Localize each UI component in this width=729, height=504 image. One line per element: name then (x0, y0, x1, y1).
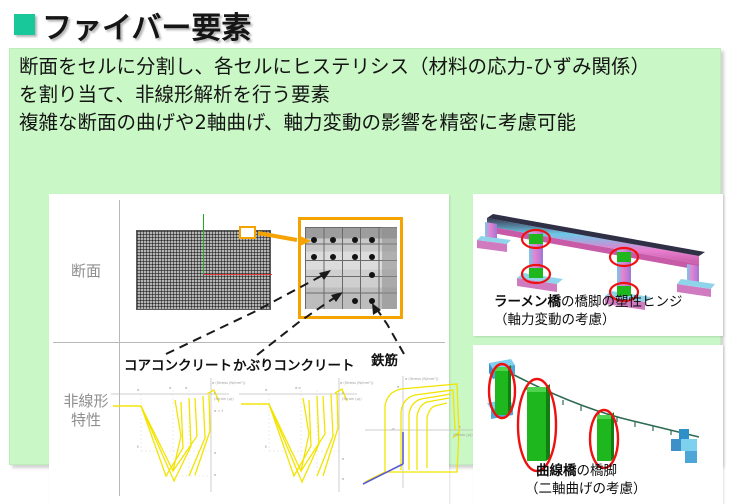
description-line-2: を割り当て、非線形解析を行う要素 (19, 81, 719, 109)
svg-text:ε: ε (214, 391, 216, 395)
svg-text:ε: ε (459, 425, 461, 429)
rigid-frame-bridge-panel: ラーメン橋の橋脚の塑性ヒンジ （軸力変動の考慮） (473, 194, 723, 336)
page-title: ファイバー要素 (42, 3, 251, 47)
slide-header: ファイバー要素 (0, 0, 729, 46)
svg-text:σ: σ (342, 457, 345, 461)
caption-curved-bridge-line2: （二軸曲げの考慮） (525, 481, 647, 498)
caption-curved-bridge-rest: の橋脚 (577, 463, 618, 479)
caption-rigid-frame-line2: （軸力変動の考慮） (494, 312, 616, 329)
svg-text:σ: σ (137, 388, 140, 392)
caption-core-concrete: コアコンクリート (124, 354, 232, 374)
svg-text:σ σ: σ σ (295, 386, 301, 390)
svg-text:-σ: -σ (391, 427, 395, 431)
description-block: 断面をセルに分割し、各セルにヒステリシス（材料の応力-ひずみ関係） を割り当て、… (19, 53, 719, 139)
caption-rigid-frame-line1: ラーメン橋の橋脚の塑性ヒンジ (494, 294, 682, 311)
svg-text:(Strain (μ)): (Strain (μ)) (342, 397, 362, 401)
svg-text:(Strain (μ)): (Strain (μ)) (453, 433, 473, 437)
caption-rigid-frame-strong: ラーメン橋 (494, 294, 561, 310)
svg-text:σ: σ (342, 477, 345, 481)
svg-text:σ: σ (397, 385, 400, 389)
svg-text:σ: σ (214, 473, 217, 477)
bullet-square-icon (14, 14, 35, 35)
svg-text:σ: σ (169, 386, 172, 390)
content-board: 断面をセルに分割し、各セルにヒステリシス（材料の応力-ひずみ関係） を割り当て、… (9, 48, 721, 465)
description-line-1: 断面をセルに分割し、各セルにヒステリシス（材料の応力-ひずみ関係） (19, 53, 719, 81)
curved-bridge-panel: 曲線橋の橋脚 （二軸曲げの考慮） (473, 345, 723, 504)
hysteresis-plot-cover-concrete: σσ σ σ (Stress (N/mm²)) ε (Strain (μ)) E… (239, 376, 374, 494)
svg-text:ε: ε (342, 391, 344, 395)
caption-cover-concrete: かぶりコンクリート (233, 354, 355, 374)
svg-text:(Strain (μ)): (Strain (μ)) (214, 397, 234, 401)
description-line-3: 複雑な断面の曲げや2軸曲げ、軸力変動の影響を精密に考慮可能 (19, 109, 719, 137)
svg-text:σ: σ (265, 388, 268, 392)
svg-text:σ (Stress (N/mm²)): σ (Stress (N/mm²)) (405, 377, 439, 381)
caption-rigid-frame-rest: の橋脚の塑性ヒンジ (561, 294, 683, 310)
caption-curved-bridge-line1: 曲線橋の橋脚 (536, 463, 617, 480)
caption-rebar: 鉄筋 (371, 349, 398, 369)
hysteresis-plot-core-concrete: σσσ σ (Stress (N/mm²)) ε (Strain (μ)) σ … (111, 376, 246, 494)
svg-text:E: E (265, 445, 268, 449)
svg-text:σ: σ (185, 386, 188, 390)
hysteresis-plot-rebar: σ (Stress (N/mm²)) σ -σ ε (Strain (μ)) (361, 372, 481, 492)
caption-curved-bridge-strong: 曲線橋 (536, 463, 577, 479)
svg-text:E: E (137, 445, 140, 449)
cross-section-panel: 断面 非線形 特性 (49, 194, 449, 504)
svg-text:σ = f: σ = f (214, 409, 224, 413)
svg-text:σ: σ (214, 451, 217, 455)
